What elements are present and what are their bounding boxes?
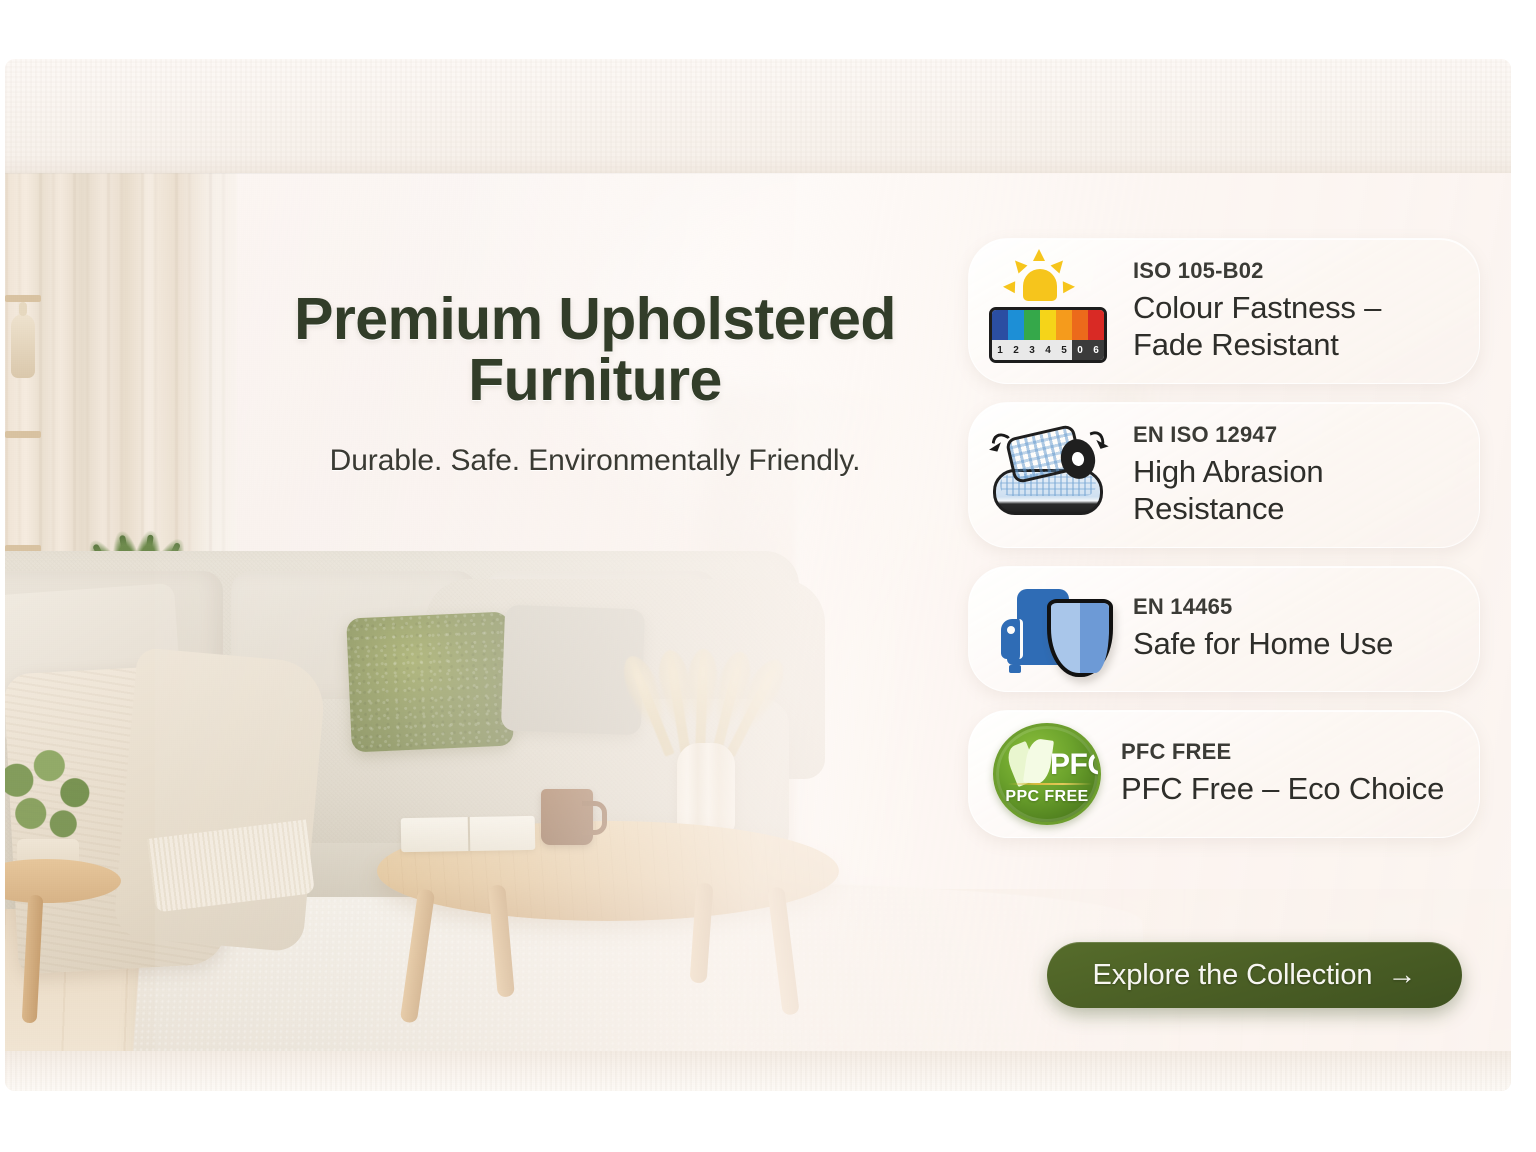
armchair-shield-icon xyxy=(987,577,1119,681)
arrow-right-icon: → xyxy=(1387,961,1416,990)
feature-title: Colour Fastness – Fade Resistant xyxy=(1133,290,1459,363)
feature-card-text: ISO 105-B02 Colour Fastness – Fade Resis… xyxy=(1133,259,1459,363)
explore-collection-button[interactable]: Explore the Collection → xyxy=(1047,942,1462,1008)
swatch-num: 3 xyxy=(1024,340,1040,360)
swatch-numbers: 1 2 3 4 5 0 6 xyxy=(992,340,1104,360)
feature-title: PFC Free – Eco Choice xyxy=(1121,771,1459,807)
feature-card-text: PFC FREE PFC Free – Eco Choice xyxy=(1121,740,1459,807)
feature-title-line-1: High Abrasion xyxy=(1133,454,1459,490)
pfc-badge: PFC PPC FREE xyxy=(993,723,1101,825)
standard-code: EN 14465 xyxy=(1133,595,1459,619)
badge-abbr: PFC xyxy=(1050,748,1101,782)
sun-icon xyxy=(1011,255,1067,311)
standard-code: PFC FREE xyxy=(1121,740,1459,764)
feature-title-line-2: Resistance xyxy=(1133,491,1459,527)
hero-banner: Premium Upholstered Furniture Durable. S… xyxy=(5,59,1511,1091)
cta-label: Explore the Collection xyxy=(1093,959,1373,992)
feature-title-line-1: PFC Free – Eco Choice xyxy=(1121,771,1459,807)
feature-title-line-1: Safe for Home Use xyxy=(1133,626,1459,662)
feature-title-line-2: Fade Resistant xyxy=(1133,327,1459,363)
swatch-num: 2 xyxy=(1008,340,1024,360)
feature-card-safe-home[interactable]: EN 14465 Safe for Home Use xyxy=(968,566,1480,692)
swatch-num: 4 xyxy=(1040,340,1056,360)
subheadline: Durable. Safe. Environmentally Friendly. xyxy=(245,444,945,478)
standard-code: EN ISO 12947 xyxy=(1133,423,1459,447)
headline-line-2: Furniture xyxy=(245,350,945,411)
swatch-num: 5 xyxy=(1056,340,1072,360)
feature-card-colour-fastness[interactable]: 1 2 3 4 5 0 6 ISO 105-B02 Colour Fastnes… xyxy=(968,238,1480,384)
abrasion-roller-icon xyxy=(987,417,1119,533)
swatch-colors xyxy=(992,310,1104,340)
feature-card-text: EN ISO 12947 High Abrasion Resistance xyxy=(1133,423,1459,527)
badge-divider xyxy=(1008,783,1092,785)
swatch-num: 6 xyxy=(1088,340,1104,360)
headline-line-1: Premium Upholstered xyxy=(245,289,945,350)
headline-block: Premium Upholstered Furniture Durable. S… xyxy=(245,289,945,478)
feature-card-abrasion[interactable]: EN ISO 12947 High Abrasion Resistance xyxy=(968,402,1480,548)
colour-swatch-bar: 1 2 3 4 5 0 6 xyxy=(989,307,1107,363)
pfc-free-badge-icon: PFC PPC FREE xyxy=(987,721,1107,827)
swatch-num: 0 xyxy=(1072,340,1088,360)
feature-card-text: EN 14465 Safe for Home Use xyxy=(1133,595,1459,662)
feature-card-pfc-free[interactable]: PFC PPC FREE PFC FREE PFC Free – Eco Cho… xyxy=(968,710,1480,838)
feature-title: Safe for Home Use xyxy=(1133,626,1459,662)
page-title: Premium Upholstered Furniture xyxy=(245,289,945,411)
swatch-num: 1 xyxy=(992,340,1008,360)
feature-title-line-1: Colour Fastness – xyxy=(1133,290,1459,326)
sun-colour-swatch-icon: 1 2 3 4 5 0 6 xyxy=(987,253,1119,369)
feature-title: High Abrasion Resistance xyxy=(1133,454,1459,527)
badge-subtext: PPC FREE xyxy=(996,788,1098,806)
feature-card-list: 1 2 3 4 5 0 6 ISO 105-B02 Colour Fastnes… xyxy=(968,238,1480,856)
standard-code: ISO 105-B02 xyxy=(1133,259,1459,283)
